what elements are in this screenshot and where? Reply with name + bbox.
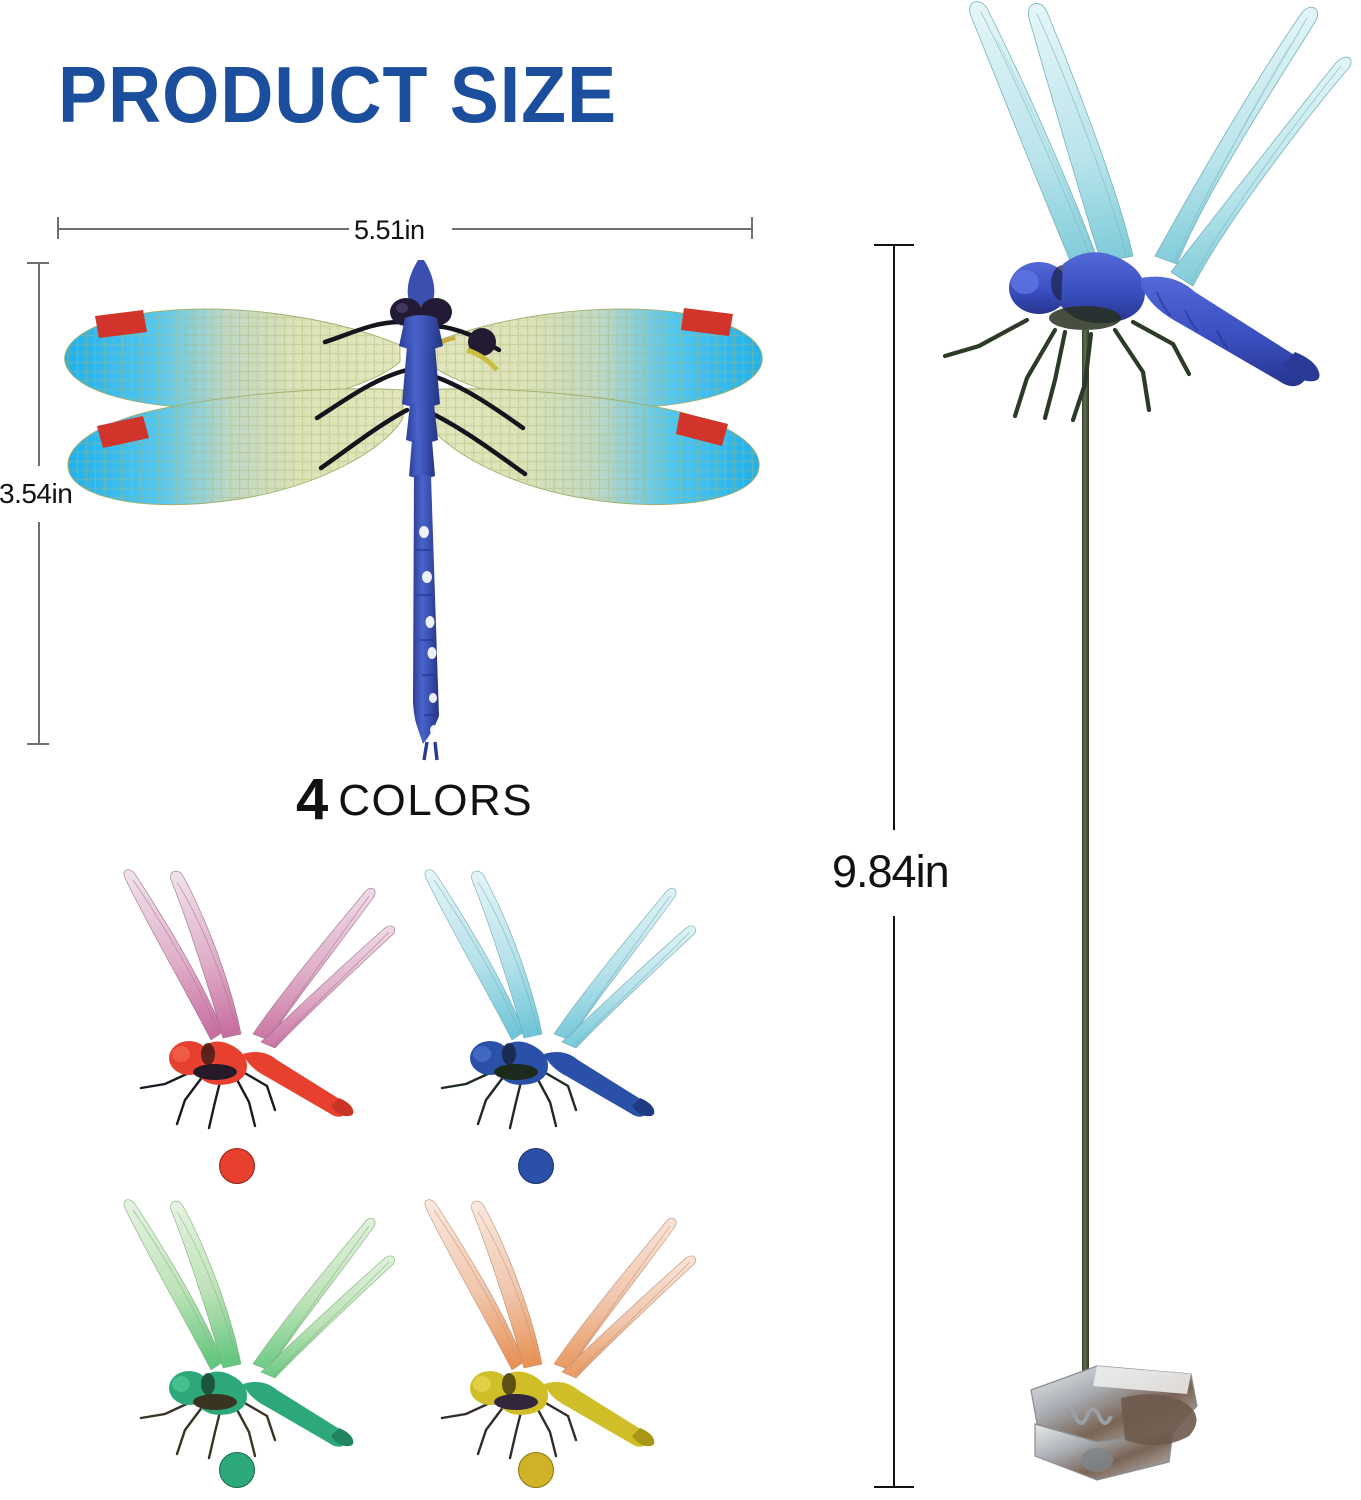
body <box>1009 252 1320 386</box>
wings <box>124 870 395 1048</box>
variant-green-dragonfly[interactable] <box>103 1192 403 1462</box>
variant-red-dragonfly[interactable] <box>103 862 403 1132</box>
swatch-dot-red[interactable] <box>219 1148 255 1184</box>
swatch-dot-blue[interactable] <box>518 1148 554 1184</box>
wings <box>425 870 696 1048</box>
infographic-canvas: PRODUCT SIZE 5.51in 3.54in 9.84in <box>0 0 1361 1500</box>
body <box>470 1041 654 1117</box>
legs <box>945 320 1189 420</box>
colors-heading: 4COLORS <box>296 766 533 833</box>
variant-yellow-dragonfly[interactable] <box>404 1192 704 1462</box>
swatch-dot-yellow[interactable] <box>518 1452 554 1488</box>
abdomen <box>1141 277 1309 387</box>
wings <box>425 1200 696 1378</box>
wings <box>970 2 1352 286</box>
wings <box>124 1200 395 1378</box>
width-dimension-label: 5.51in <box>349 215 430 246</box>
wing-lower-right <box>424 389 759 505</box>
colors-word: COLORS <box>338 776 533 825</box>
page-title: PRODUCT SIZE <box>58 55 617 135</box>
swatch-dot-green[interactable] <box>219 1452 255 1488</box>
hero-dragonfly-stake <box>905 0 1361 1500</box>
colors-count: 4 <box>296 767 328 832</box>
stake-rod <box>1082 330 1089 1450</box>
body <box>169 1041 353 1117</box>
hero-dragonfly-top-view <box>55 250 755 760</box>
spring-clip <box>1031 1366 1197 1480</box>
body <box>169 1371 353 1447</box>
body <box>470 1371 654 1447</box>
body <box>390 260 452 760</box>
variant-blue-dragonfly[interactable] <box>404 862 704 1132</box>
